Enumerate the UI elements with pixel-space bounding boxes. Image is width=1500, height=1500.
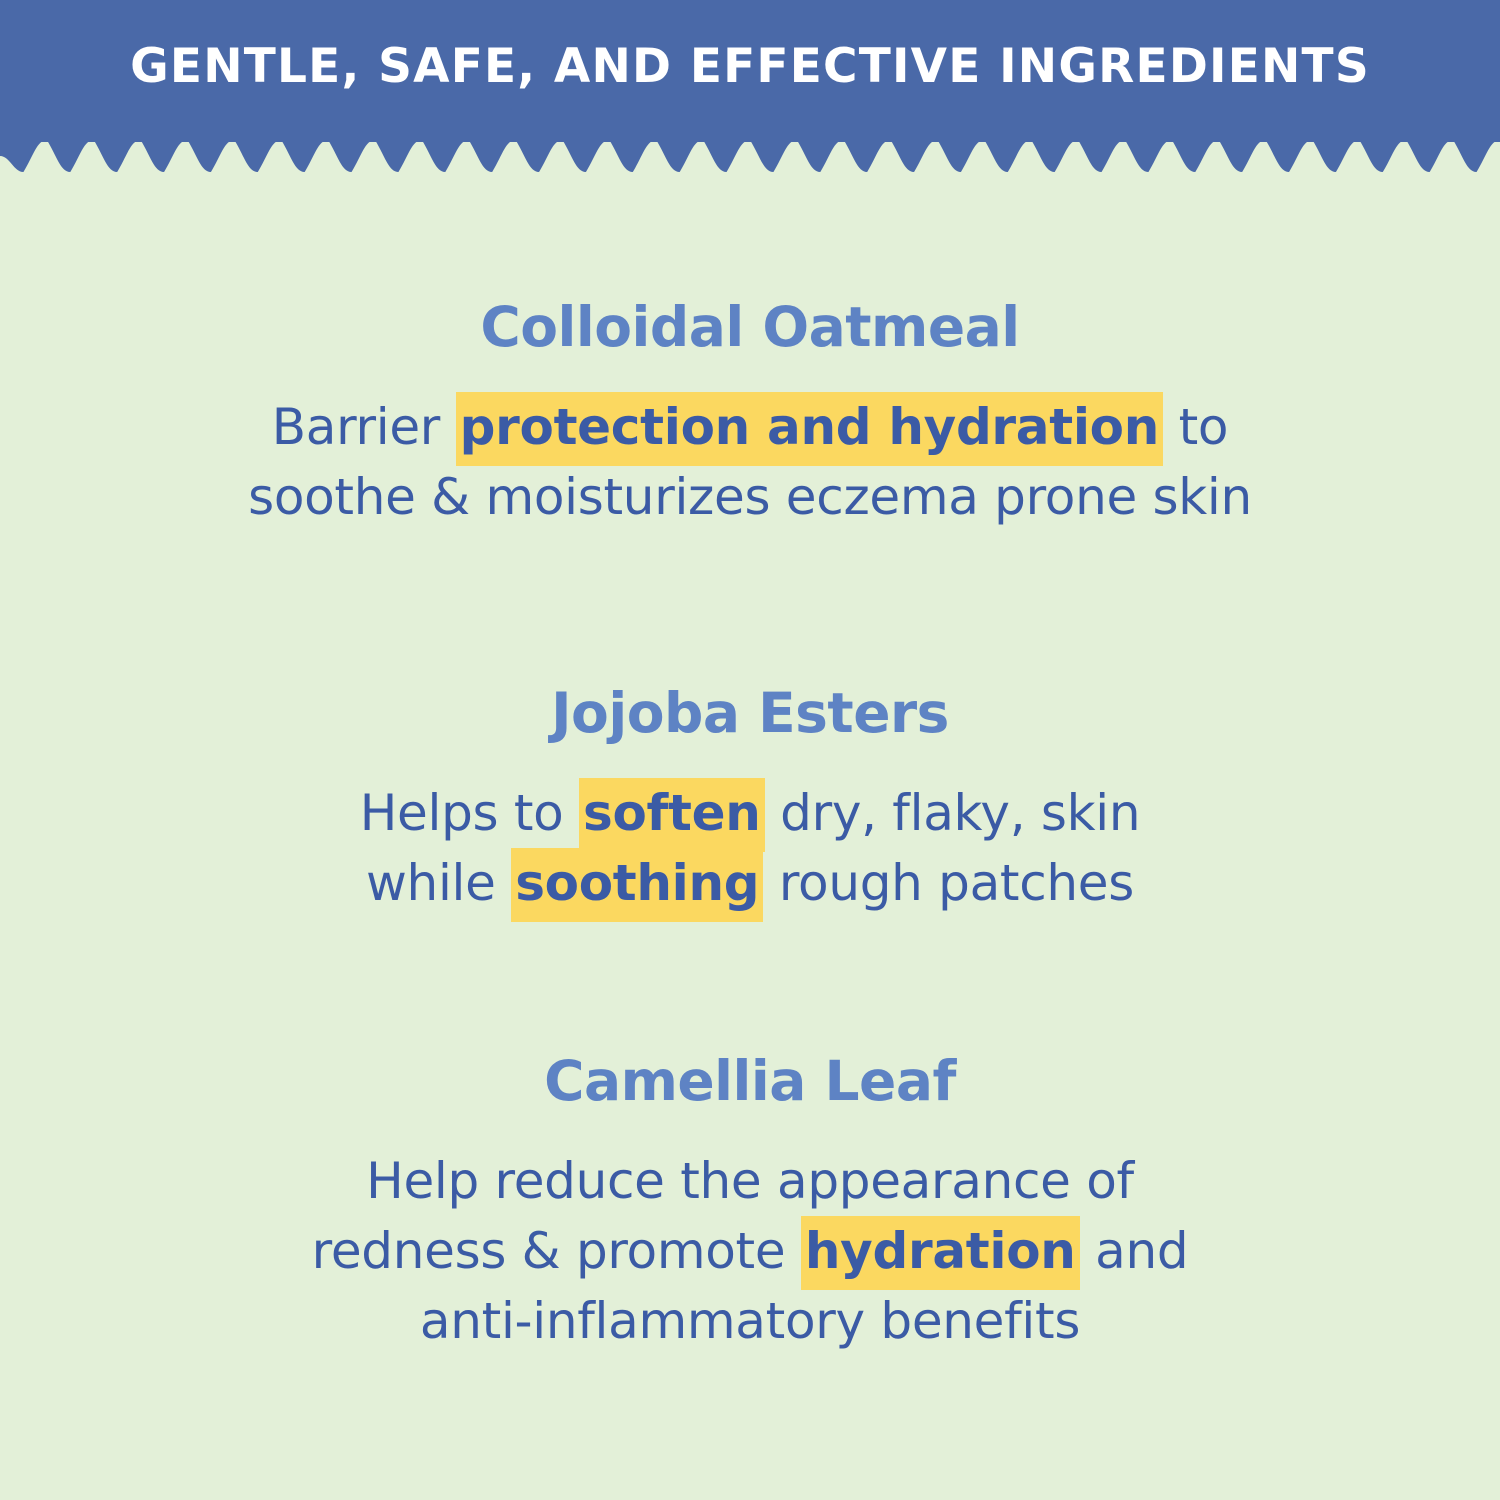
description-line: anti-inflammatory benefits bbox=[0, 1286, 1500, 1356]
highlighted-phrase: protection and hydration bbox=[456, 392, 1163, 466]
header-banner: GENTLE, SAFE, AND EFFECTIVE INGREDIENTS bbox=[0, 0, 1500, 172]
text-run: Barrier bbox=[272, 398, 456, 456]
scalloped-wave-edge bbox=[0, 140, 1500, 172]
description-line: Barrier protection and hydration to bbox=[0, 392, 1500, 462]
ingredients-list: Colloidal Oatmeal Barrier protection and… bbox=[0, 172, 1500, 1500]
text-run: to bbox=[1163, 398, 1228, 456]
text-run: Help reduce the appearance of bbox=[366, 1152, 1134, 1210]
highlighted-phrase: soothing bbox=[511, 848, 763, 922]
ingredients-infographic: GENTLE, SAFE, AND EFFECTIVE INGREDIENTS … bbox=[0, 0, 1500, 1500]
ingredient-title: Jojoba Esters bbox=[0, 680, 1500, 746]
ingredient-title: Camellia Leaf bbox=[0, 1048, 1500, 1114]
ingredient-section-camellia-leaf: Camellia Leaf Help reduce the appearance… bbox=[0, 1048, 1500, 1356]
text-run: redness & promote bbox=[312, 1222, 801, 1280]
ingredient-title: Colloidal Oatmeal bbox=[0, 294, 1500, 360]
text-run: rough patches bbox=[763, 854, 1134, 912]
text-run: and bbox=[1080, 1222, 1189, 1280]
text-run: while bbox=[366, 854, 511, 912]
description-line: soothe & moisturizes eczema prone skin bbox=[0, 462, 1500, 532]
page-title: GENTLE, SAFE, AND EFFECTIVE INGREDIENTS bbox=[0, 38, 1500, 96]
ingredient-description: Helps to soften dry, flaky, skin while s… bbox=[0, 778, 1500, 918]
highlighted-phrase: soften bbox=[579, 778, 764, 852]
description-line: Help reduce the appearance of bbox=[0, 1146, 1500, 1216]
ingredient-section-jojoba-esters: Jojoba Esters Helps to soften dry, flaky… bbox=[0, 680, 1500, 918]
description-line: redness & promote hydration and bbox=[0, 1216, 1500, 1286]
highlighted-phrase: hydration bbox=[801, 1216, 1080, 1290]
text-run: Helps to bbox=[360, 784, 579, 842]
ingredient-description: Barrier protection and hydration to soot… bbox=[0, 392, 1500, 532]
text-run: anti-inflammatory benefits bbox=[420, 1292, 1080, 1350]
ingredient-section-colloidal-oatmeal: Colloidal Oatmeal Barrier protection and… bbox=[0, 294, 1500, 532]
description-line: Helps to soften dry, flaky, skin bbox=[0, 778, 1500, 848]
text-run: dry, flaky, skin bbox=[765, 784, 1141, 842]
ingredient-description: Help reduce the appearance of redness & … bbox=[0, 1146, 1500, 1356]
description-line: while soothing rough patches bbox=[0, 848, 1500, 918]
text-run: soothe & moisturizes eczema prone skin bbox=[248, 468, 1252, 526]
